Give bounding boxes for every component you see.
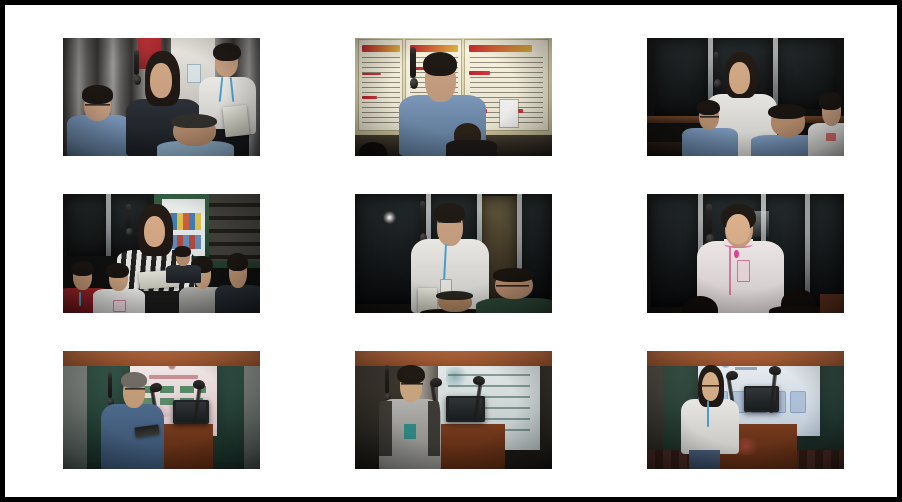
wall-panel (244, 351, 260, 469)
seat-back (820, 294, 844, 313)
audience-body (446, 140, 497, 157)
badge (826, 133, 835, 141)
poster-header (362, 45, 400, 52)
person-hair (121, 372, 147, 388)
wall-panel (63, 351, 87, 469)
person-torso (166, 265, 202, 283)
poster-header (469, 45, 532, 52)
person-presenter (686, 365, 733, 469)
poster-red-band (362, 96, 377, 99)
photo-tile-top-center[interactable]: Man in blue shirt speaking into a microp… (355, 38, 552, 156)
photo-scene-bottom-right (647, 351, 844, 469)
person-foreground-right (485, 268, 548, 313)
microphone (410, 47, 416, 77)
person-speaker-uniform (706, 204, 773, 313)
microphone-head (410, 78, 418, 89)
glasses-icon (401, 383, 423, 385)
photo-tile-middle-right[interactable]: Woman in white uniform with pink trim sp… (647, 194, 844, 312)
glasses-icon (438, 221, 462, 223)
microphone-head (134, 75, 141, 85)
slide-box (790, 391, 806, 413)
glasses-icon (125, 388, 145, 390)
glass-partition (809, 196, 842, 307)
person-presenter (108, 372, 157, 469)
person-hair (171, 114, 217, 128)
person-audience-right (221, 253, 256, 312)
poster-text-lines (362, 57, 400, 125)
person-face (729, 62, 750, 94)
laptop-screen (176, 402, 206, 422)
lanyard (707, 401, 709, 427)
microphone (714, 52, 718, 79)
microphone (420, 201, 425, 232)
photo-grid: Woman in dark blazer speaking into a han… (23, 22, 884, 485)
poster-white-sheet (500, 100, 518, 127)
laptop (173, 400, 208, 424)
person-face (726, 214, 750, 244)
photo-scene-bottom-center (355, 351, 552, 469)
window-frame (773, 38, 778, 109)
photo-tile-bottom-center[interactable]: Presenter in grey vest speaking at a pod… (355, 351, 552, 469)
photo-scene-middle-center (355, 194, 552, 312)
person-hair (768, 104, 806, 119)
person-hair (397, 365, 425, 384)
person-seated-left (71, 85, 130, 156)
collage-title: Conference Photo Collage (4, 4, 5, 5)
photo-tile-middle-left[interactable]: Woman in black and white striped shirt s… (63, 194, 260, 312)
glasses-icon (85, 104, 110, 106)
badge (737, 260, 750, 282)
papers (223, 105, 250, 137)
glasses-icon (702, 385, 720, 387)
person-torso (476, 298, 552, 313)
microphone-head (126, 228, 133, 237)
microphone-head (714, 79, 721, 88)
photo-tile-bottom-right[interactable]: Woman in white jacket presenting at a po… (647, 351, 844, 469)
shirt-teal (404, 424, 416, 439)
podium-top-surface (355, 351, 552, 366)
microphone (126, 204, 131, 228)
person-torso (215, 285, 260, 312)
glass-partition (651, 196, 698, 307)
person-hair (436, 291, 473, 300)
wall-panel (217, 355, 245, 461)
person-torso (67, 115, 131, 156)
photo-scene-top-center (355, 38, 552, 156)
shelving-unit (209, 194, 260, 260)
person-hair (819, 92, 842, 109)
person-seated-left (690, 100, 729, 157)
photo-scene-middle-right (647, 194, 844, 312)
person-hair (174, 246, 191, 257)
person-hair (106, 263, 129, 278)
microphone (108, 372, 112, 398)
vest-side-panel (428, 401, 440, 456)
person-audience-back (169, 246, 197, 281)
window-pane (67, 197, 106, 256)
person-face (150, 63, 171, 98)
person-hair (71, 261, 94, 277)
uniform-pink-trim (729, 241, 731, 295)
photo-tile-bottom-left[interactable]: Man in blue shirt presenting at a wooden… (63, 351, 260, 469)
uniform-pin (734, 250, 739, 259)
photo-scene-top-left (63, 38, 260, 156)
vest-side-panel (379, 401, 391, 456)
person-audience-white-coat (98, 263, 137, 313)
person-hair (434, 203, 465, 223)
photo-scene-bottom-left (63, 351, 260, 469)
glasses-icon (700, 116, 719, 118)
microphone (385, 365, 389, 393)
microphone (134, 50, 139, 76)
microphone (706, 204, 712, 234)
person-presenter (385, 365, 436, 469)
window-frame (106, 194, 111, 256)
glasses-icon (496, 285, 529, 287)
podium-top-surface (647, 351, 844, 366)
person-jeans (689, 450, 720, 469)
photo-scene-top-right (647, 38, 844, 156)
person-hair (493, 268, 535, 282)
person-seated-right (814, 92, 844, 156)
photo-scene-middle-left (63, 194, 260, 312)
person-hair (213, 43, 241, 61)
photo-tile-middle-center[interactable]: Man in white shirt with glasses and lany… (355, 194, 552, 312)
person-torso (682, 128, 737, 156)
photo-tile-top-left[interactable]: Woman in dark blazer speaking into a han… (63, 38, 260, 156)
poster-panel (359, 40, 402, 130)
person-hair (697, 100, 720, 115)
badge (113, 300, 125, 312)
podium-top-surface (63, 351, 260, 366)
person-torso (101, 404, 164, 469)
person-hair (423, 52, 457, 76)
person-torso (681, 399, 740, 454)
audience-head (359, 142, 387, 156)
poster-red-band (362, 73, 380, 76)
collage-frame: Conference Photo Collage (0, 0, 902, 502)
photo-tile-top-right[interactable]: Woman in white blouse standing and askin… (647, 38, 844, 156)
slide-subtitle (735, 367, 757, 369)
person-hair (82, 85, 114, 103)
person-foreground-back (165, 114, 224, 157)
person-foreground-center (430, 291, 481, 312)
person-hair (227, 253, 248, 271)
lanyard (79, 292, 81, 306)
window-reflection-light (383, 211, 397, 224)
person-face (144, 216, 165, 248)
